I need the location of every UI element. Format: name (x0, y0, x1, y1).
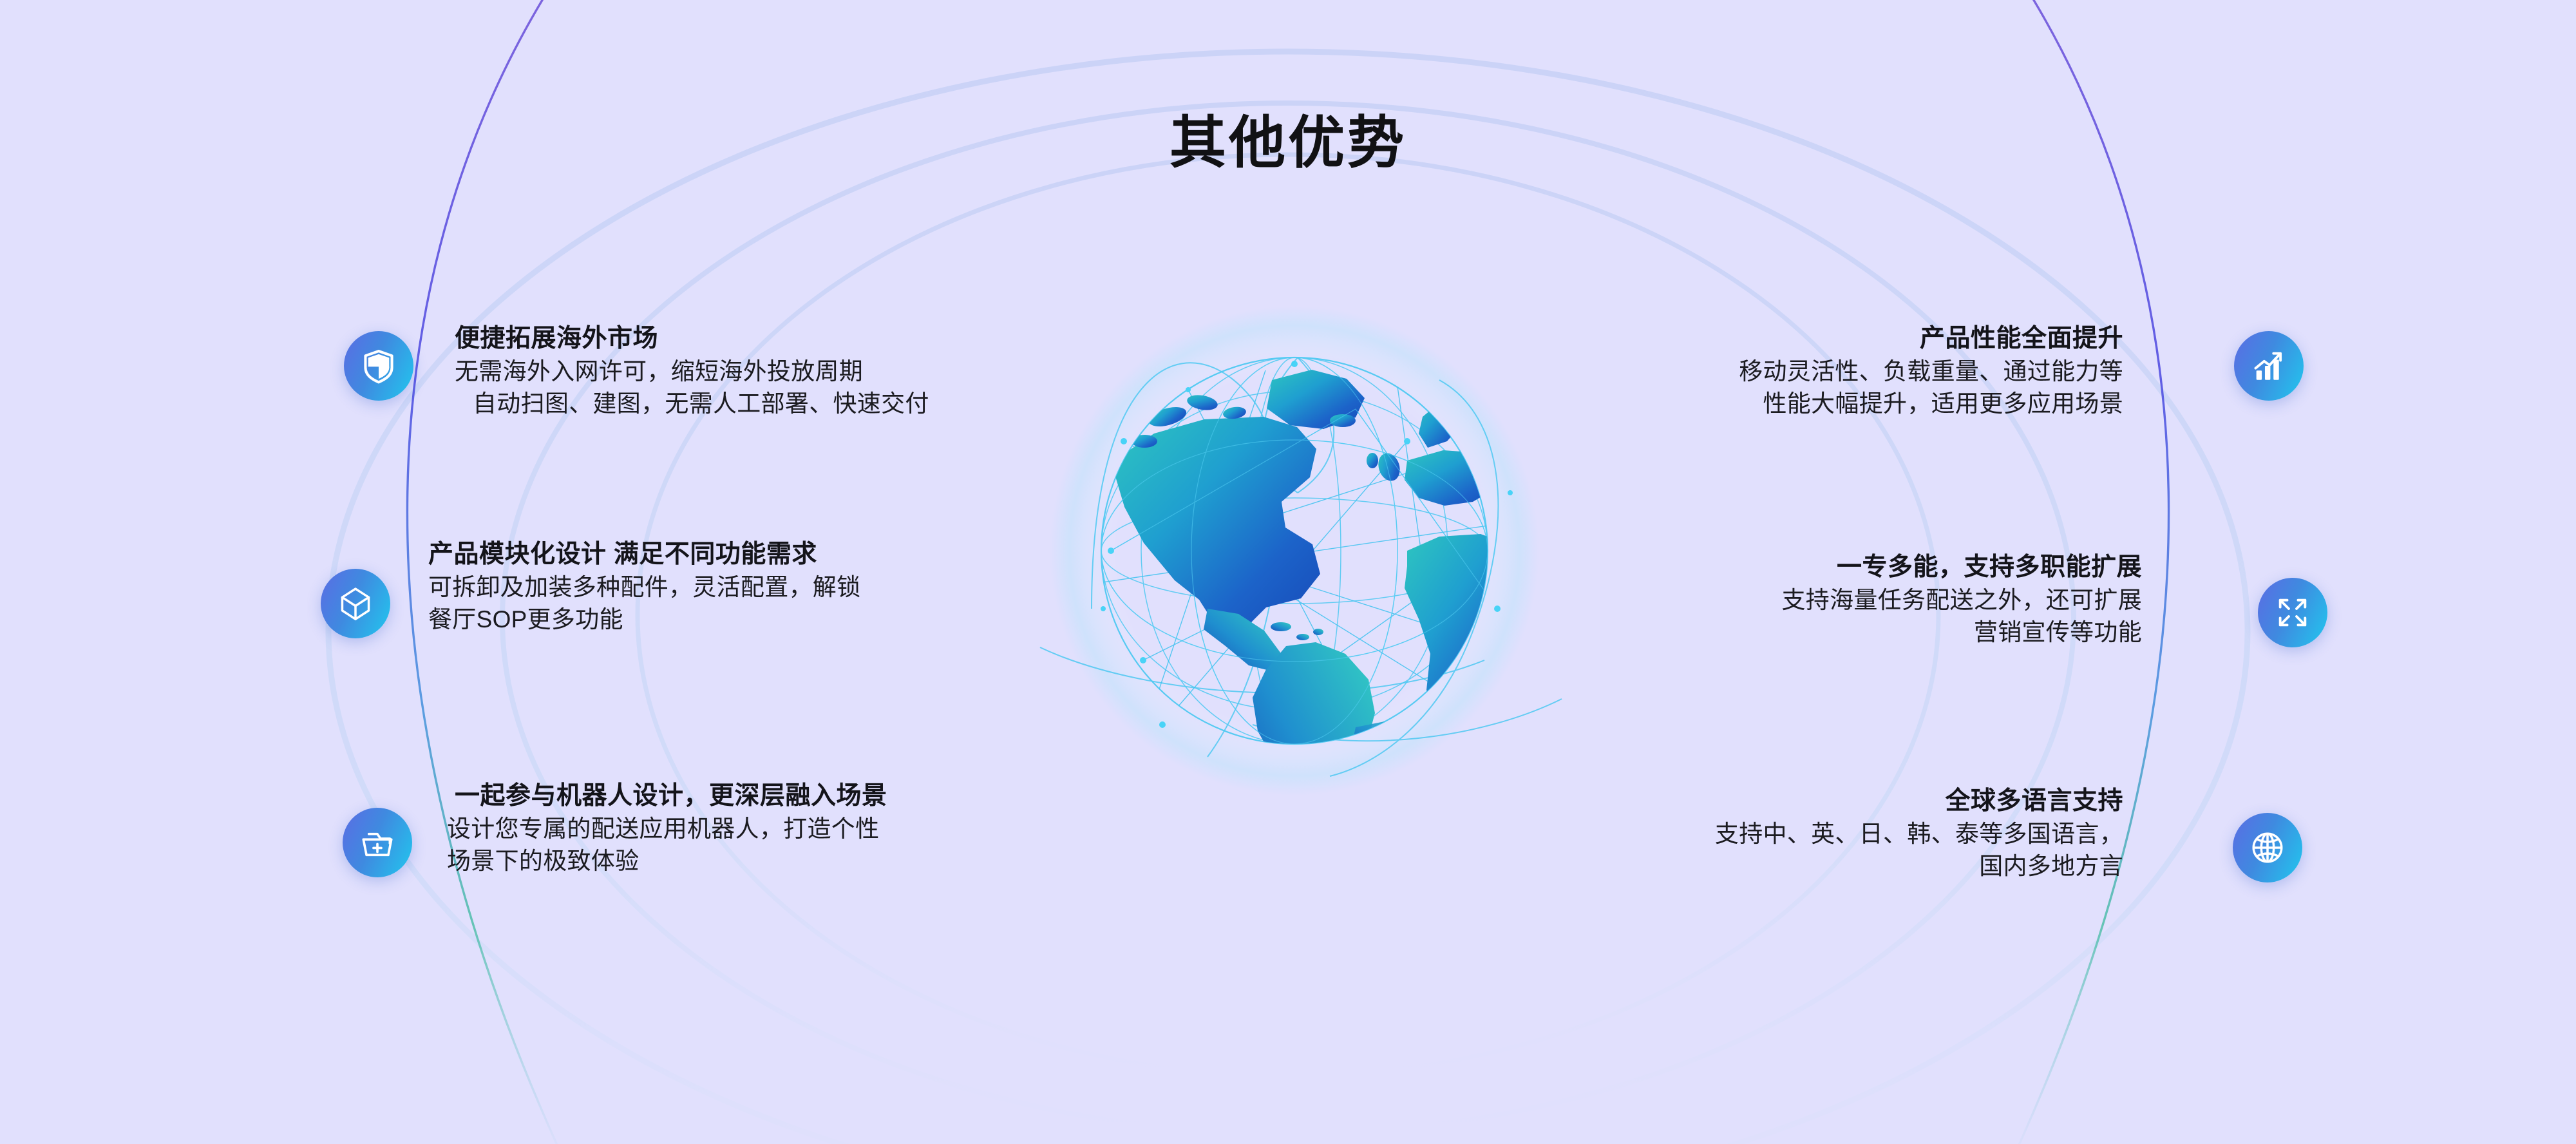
feature-text-left-3: 一起参与机器人设计，更深层融入场景 设计您专属的配送应用机器人，打造个性 场景下… (455, 779, 887, 877)
feature-line: 设计您专属的配送应用机器人，打造个性 (447, 813, 887, 845)
feature-heading: 一专多能，支持多职能扩展 (1782, 551, 2143, 584)
feature-item-right-3: 全球多语言支持 支持中、英、日、韩、泰等多国语言， 国内多地方言 (1715, 785, 2225, 882)
feature-item-right-2: 一专多能，支持多职能扩展 支持海量任务配送之外，还可扩展 营销宣传等功能 (1782, 551, 2244, 648)
feature-line: 性能大幅提升，适用更多应用场景 (1739, 388, 2123, 420)
feature-line: 支持中、英、日、韩、泰等多国语言， (1715, 818, 2123, 850)
cube-icon-glyph (337, 585, 374, 622)
feature-heading: 产品模块化设计 满足不同功能需求 (428, 538, 860, 571)
feature-line: 餐厅SOP更多功能 (428, 604, 860, 636)
folder-plus-icon-glyph (359, 824, 396, 861)
feature-text-left-2: 产品模块化设计 满足不同功能需求 可拆卸及加装多种配件，灵活配置，解锁 餐厅SO… (428, 538, 860, 635)
globe-grid-icon[interactable] (2233, 813, 2302, 882)
shield-icon-glyph (360, 347, 397, 385)
feature-heading: 全球多语言支持 (1715, 785, 2123, 818)
page-title: 其他优势 (0, 115, 2576, 171)
feature-line: 可拆卸及加装多种配件，灵活配置，解锁 (428, 571, 860, 604)
feature-line: 营销宣传等功能 (1782, 616, 2143, 649)
feature-item-left-2: 产品模块化设计 满足不同功能需求 可拆卸及加装多种配件，灵活配置，解锁 餐厅SO… (335, 538, 860, 635)
feature-heading: 一起参与机器人设计，更深层融入场景 (455, 779, 887, 813)
feature-line: 无需海外入网许可，缩短海外投放周期 (455, 356, 929, 388)
bar-chart-up-icon-glyph (2250, 347, 2287, 385)
feature-item-right-1: 产品性能全面提升 移动灵活性、负载重量、通过能力等 性能大幅提升，适用更多应用场… (1739, 322, 2225, 419)
feature-text-right-1: 产品性能全面提升 移动灵活性、负载重量、通过能力等 性能大幅提升，适用更多应用场… (1739, 322, 2123, 419)
feature-line: 移动灵活性、负载重量、通过能力等 (1739, 356, 2123, 388)
feature-heading: 便捷拓展海外市场 (455, 322, 929, 356)
feature-heading: 产品性能全面提升 (1739, 322, 2123, 356)
feature-text-right-3: 全球多语言支持 支持中、英、日、韩、泰等多国语言， 国内多地方言 (1715, 785, 2123, 882)
advantages-infographic: 其他优势 (0, 0, 2576, 1144)
feature-line: 自动扫图、建图，无需人工部署、快速交付 (473, 388, 929, 420)
expand-arrows-icon[interactable] (2258, 578, 2327, 647)
feature-item-left-3: 一起参与机器人设计，更深层融入场景 设计您专属的配送应用机器人，打造个性 场景下… (353, 779, 887, 877)
globe-grid-icon-glyph (2249, 829, 2286, 866)
world-globe-network (995, 248, 1594, 847)
shield-icon[interactable] (344, 331, 413, 401)
cube-icon[interactable] (321, 569, 390, 638)
bar-chart-up-icon[interactable] (2234, 331, 2304, 401)
feature-line: 场景下的极致体验 (447, 845, 887, 877)
feature-text-left-1: 便捷拓展海外市场 无需海外入网许可，缩短海外投放周期 自动扫图、建图，无需人工部… (455, 322, 929, 419)
feature-item-left-1: 便捷拓展海外市场 无需海外入网许可，缩短海外投放周期 自动扫图、建图，无需人工部… (353, 322, 929, 419)
feature-line: 支持海量任务配送之外，还可扩展 (1782, 584, 2143, 616)
feature-text-right-2: 一专多能，支持多职能扩展 支持海量任务配送之外，还可扩展 营销宣传等功能 (1782, 551, 2143, 648)
feature-line: 国内多地方言 (1715, 850, 2123, 882)
expand-arrows-icon-glyph (2274, 594, 2311, 631)
folder-plus-icon[interactable] (343, 808, 412, 877)
